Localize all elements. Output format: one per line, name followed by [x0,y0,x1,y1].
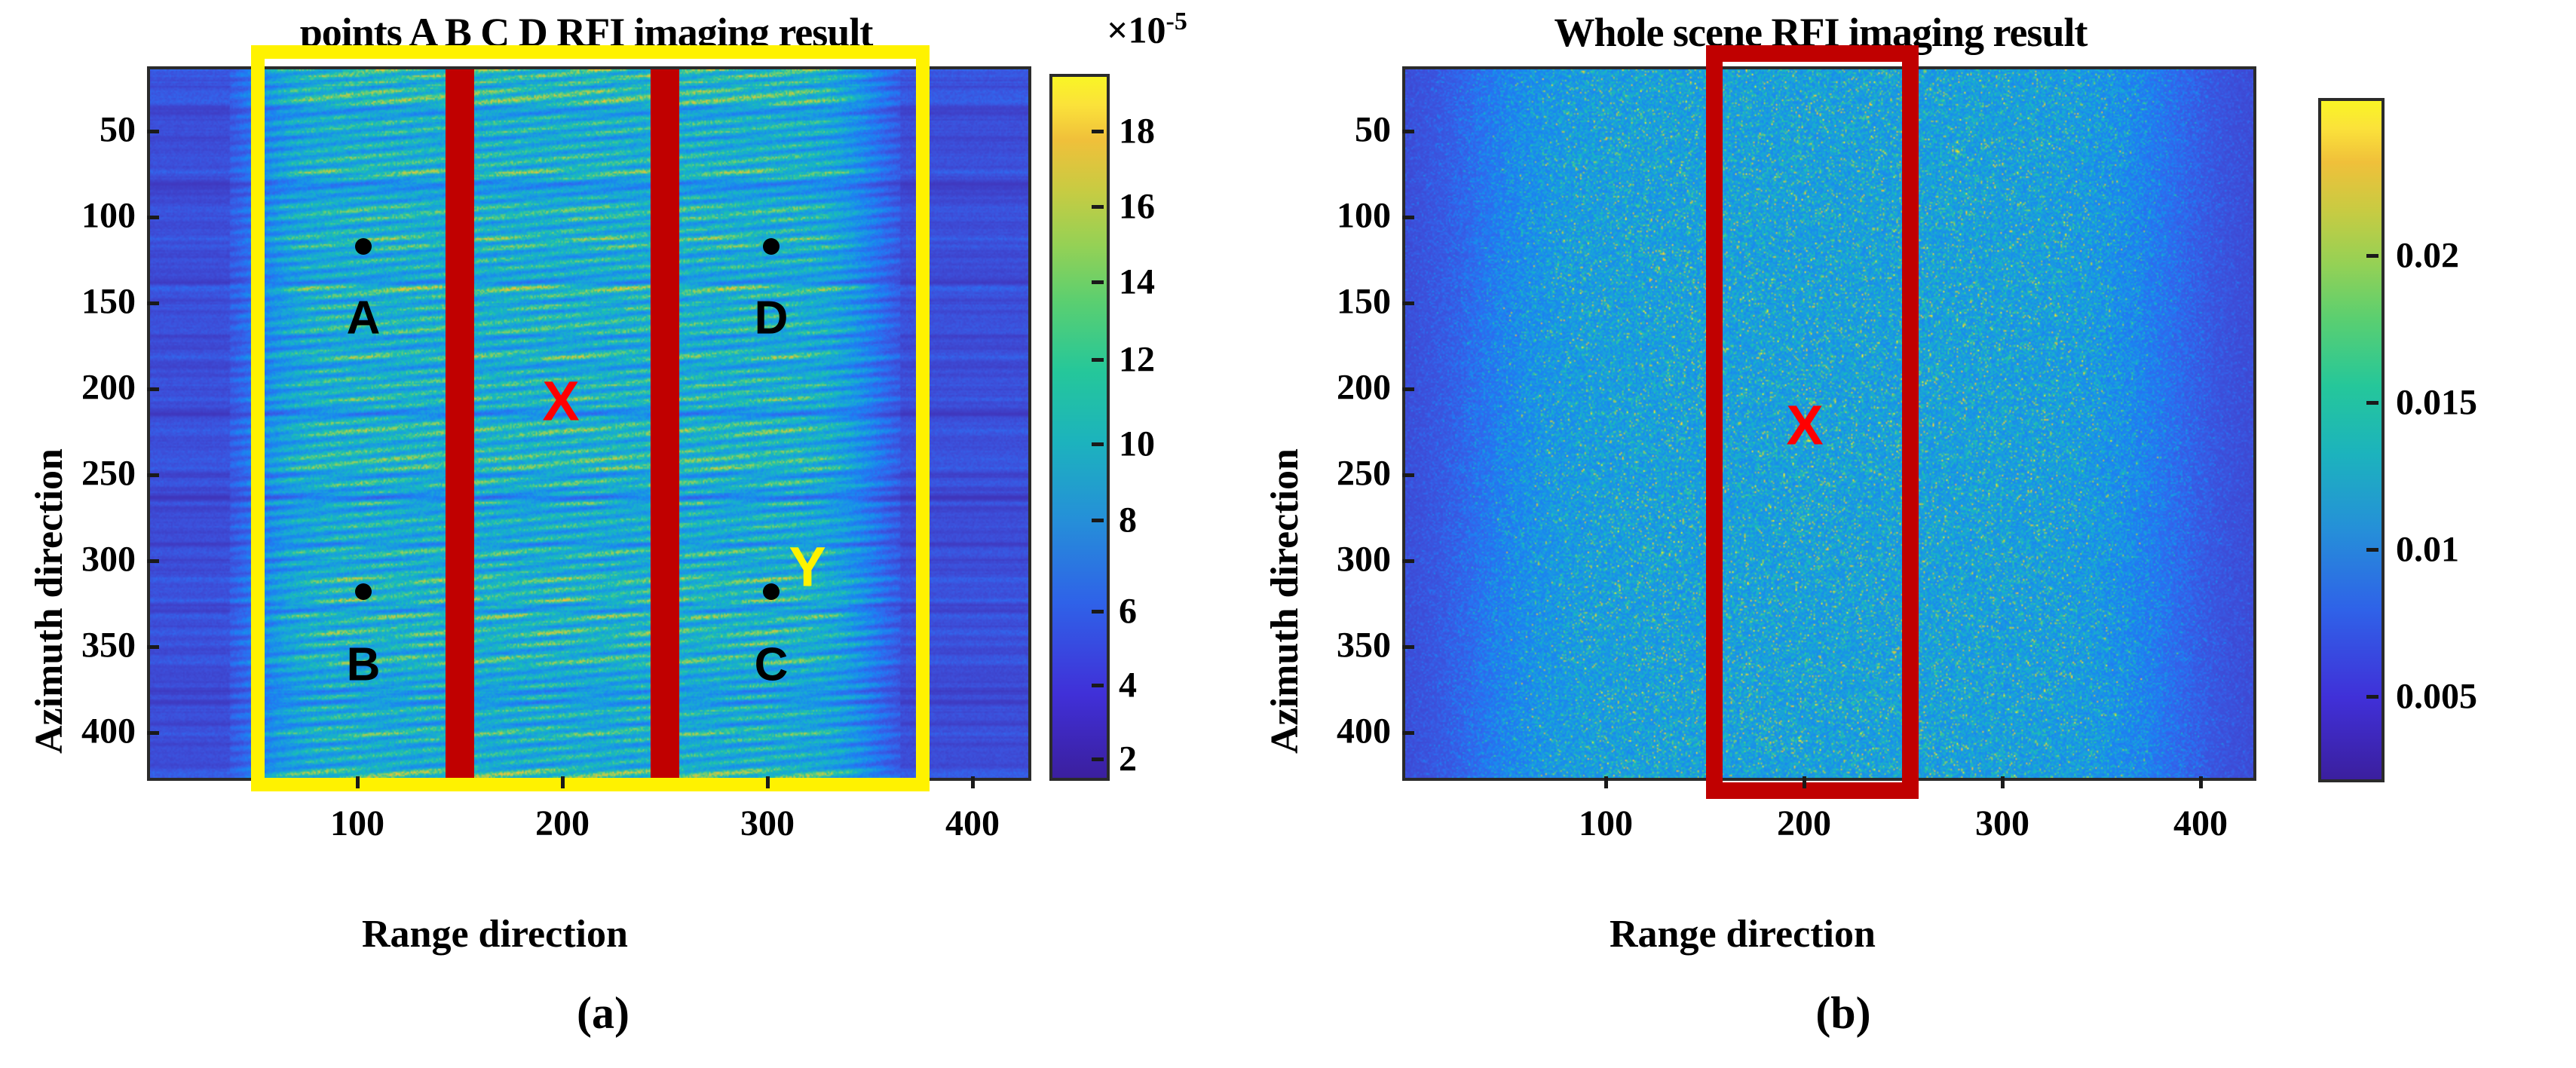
panel-a-cbar-label: 8 [1119,500,1137,541]
panel-a-xtick-label: 400 [945,803,1000,844]
panel-a-ytick-mark [147,731,159,735]
panel-b-ytick-mark [1402,130,1414,133]
panel-b-xtick-mark [1604,776,1608,788]
panel-a-cbar-label: 14 [1119,262,1155,303]
panel-b-xtick-mark [2199,776,2203,788]
panel-b-xtick-label: 100 [1579,803,1633,844]
colorbar-exp-power: -5 [1166,8,1187,35]
panel-a-cbar-tick [1092,519,1104,522]
panel-a-ytick-mark [147,387,159,391]
panel-b-sublabel: (b) [1815,987,1870,1039]
panel-b-red-roi-rect [1706,45,1919,799]
panel-b-ytick-mark [1402,387,1414,391]
panel-a-ytick-label: 350 [45,625,136,666]
panel-a-xtick-mark [766,776,770,788]
panel-b-cbar-tick [2366,254,2378,258]
panel-b-cbar-tick [2366,401,2378,405]
panel-b-ytick-mark [1402,473,1414,477]
panel-a-xtick-label: 300 [740,803,795,844]
panel-a-ytick-mark [147,301,159,305]
panel-b-cbar-label: 0.01 [2396,529,2459,571]
panel-b-ytick-label: 200 [1300,367,1391,409]
panel-a-xlabel: Range direction [362,912,628,956]
panel-b-ylabel: Azimuth direction [1263,448,1307,754]
panel-b-xlabel: Range direction [1610,912,1876,956]
colorbar-exp-base: ×10 [1107,9,1166,51]
panel-a-cbar-label: 18 [1119,111,1155,152]
panel-b-ytick-label: 300 [1300,539,1391,580]
panel-b-xtick-label: 200 [1777,803,1831,844]
panel-a-ytick-mark [147,216,159,219]
panel-b-ytick-mark [1402,559,1414,563]
panel-a-xtick-label: 200 [535,803,590,844]
panel-a-cbar-tick [1092,610,1104,614]
panel-a-cbar-label: 16 [1119,186,1155,228]
panel-b-xtick-mark [1803,776,1806,788]
panel-a-cbar-tick [1092,757,1104,761]
panel-b-ytick-label: 100 [1300,195,1391,237]
panel-a-ytick-label: 300 [45,539,136,580]
panel-a-ytick-mark [147,645,159,649]
panel-a-ytick-label: 200 [45,367,136,409]
panel-a-ytick-label: 50 [45,109,136,151]
panel-b-ytick-mark [1402,731,1414,735]
panel-a-xtick-mark [971,776,975,788]
panel-a-cbar-tick [1092,130,1104,133]
panel-a-ytick-mark [147,130,159,133]
panel-a-ylabel: Azimuth direction [27,448,72,754]
panel-a-cbar-label: 10 [1119,424,1155,465]
panel-b-ytick-label: 150 [1300,281,1391,323]
panel-a-xtick-mark [356,776,360,788]
panel-a-ytick-label: 100 [45,195,136,237]
panel-a-cbar-label: 4 [1119,665,1137,706]
panel-b-rfi-whole-scene: Whole scene RFI imaging result Azimuth d… [1282,0,2576,1068]
panel-b-ytick-mark [1402,645,1414,649]
panel-b-cbar-label: 0.015 [2396,382,2477,424]
panel-a-cbar-tick [1092,442,1104,446]
panel-b-cbar-tick [2366,548,2378,552]
panel-a-cbar-label: 6 [1119,591,1137,632]
panel-b-colorbar[interactable] [2318,98,2385,782]
panel-b-ytick-label: 400 [1300,711,1391,752]
panel-b-xtick-label: 300 [1975,803,2029,844]
panel-a-sublabel: (a) [577,987,629,1039]
panel-b-xtick-mark [2001,776,2005,788]
panel-a-ytick-label: 150 [45,281,136,323]
panel-a-xtick-label: 100 [330,803,384,844]
panel-b-cbar-tick [2366,695,2378,699]
panel-a-cbar-tick [1092,205,1104,209]
panel-b-cbar-label: 0.005 [2396,676,2477,718]
panel-a-colorbar[interactable] [1049,74,1110,781]
panel-a-rfi-points: points A B C D RFI imaging result Azimut… [0,0,1282,1068]
panel-a-yellow-roi-rect [251,45,930,791]
panel-a-ytick-label: 400 [45,711,136,752]
panel-a-ytick-mark [147,473,159,477]
panel-b-ytick-label: 350 [1300,625,1391,666]
panel-a-cbar-label: 2 [1119,739,1137,780]
panel-a-ytick-label: 250 [45,453,136,494]
panel-a-cbar-tick [1092,280,1104,284]
panel-b-ytick-label: 50 [1300,109,1391,151]
panel-a-ytick-mark [147,559,159,563]
panel-a-colorbar-exponent: ×10-5 [1107,8,1187,52]
panel-b-ytick-mark [1402,216,1414,219]
panel-a-cbar-label: 12 [1119,339,1155,381]
panel-b-cbar-label: 0.02 [2396,235,2459,277]
panel-a-xtick-mark [561,776,565,788]
panel-a-cbar-tick [1092,358,1104,362]
panel-a-cbar-tick [1092,684,1104,687]
panel-b-ytick-label: 250 [1300,453,1391,494]
panel-b-xtick-label: 400 [2173,803,2228,844]
panel-b-ytick-mark [1402,301,1414,305]
